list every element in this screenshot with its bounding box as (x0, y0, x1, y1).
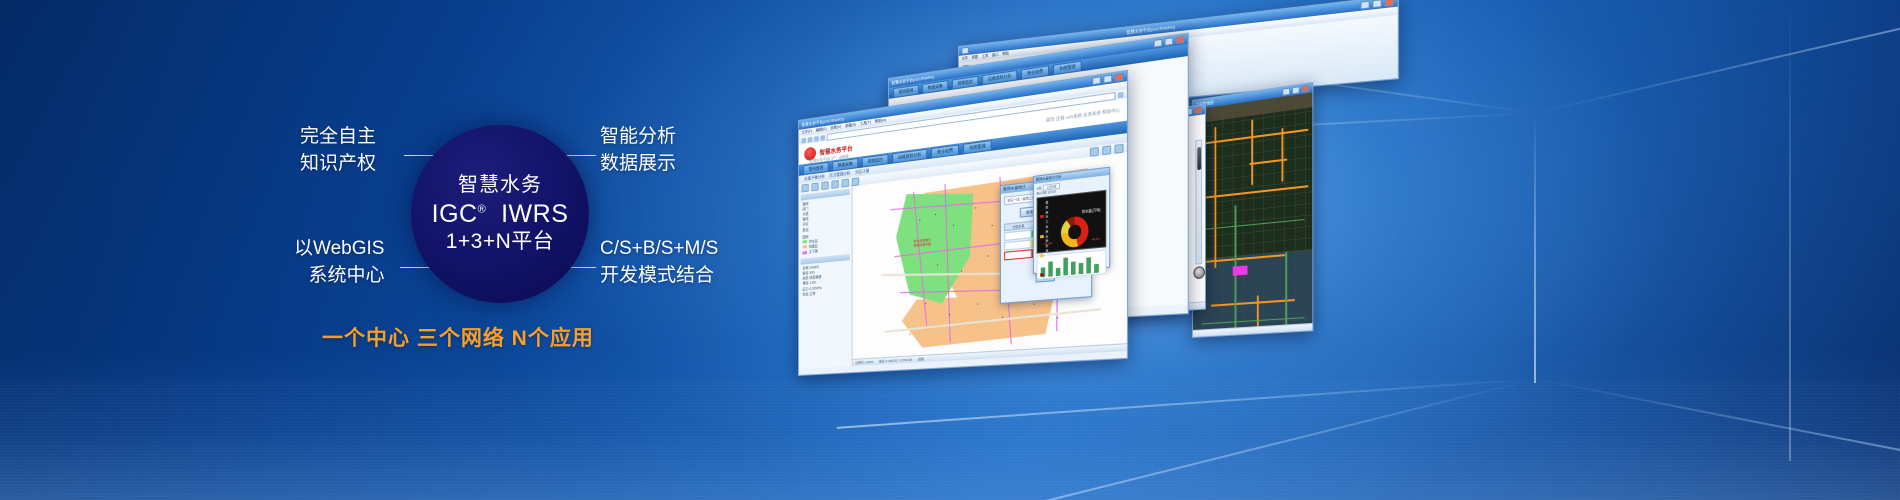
corner-link-home[interactable]: 首页 (1046, 116, 1055, 123)
pie-chart-title: 供水量(万吨) (1082, 208, 1101, 215)
maximize-icon[interactable] (1372, 0, 1382, 8)
status-scale: 比例尺 1:5000 (855, 360, 873, 365)
refresh-icon[interactable] (814, 136, 819, 142)
dialog-chart-analysis[interactable]: 管网水量统计分析 分区: 全部分区 统计周期: 近30日 居民用水 工业用水 商… (1033, 167, 1110, 274)
forward-icon[interactable] (808, 136, 812, 142)
hero-banner: 完全自主 知识产权 以WebGIS 系统中心 智能分析 数据展示 C/S+B/S… (0, 0, 1900, 500)
circle-product-name: IGC® IWRS (432, 201, 569, 228)
satellite-selected-parcel[interactable] (1233, 265, 1248, 275)
maximize-icon[interactable] (1103, 74, 1112, 83)
satellite-map-canvas[interactable] (1193, 93, 1312, 337)
feature-top-right: 智能分析 数据展示 (600, 124, 676, 178)
feature-bottom-left-line2: 系统中心 (294, 263, 384, 290)
feature-bottom-right-line1: C/S+B/S+M/S (600, 238, 718, 259)
gis-side-panel[interactable]: 管网 阀门 水表 管段 分区 泵站 图例 供水区 待建区 主干管 名称 DN30… (799, 186, 853, 369)
layers-tree[interactable]: 管网 阀门 水表 管段 分区 泵站 图例 供水区 待建区 主干管 (801, 197, 850, 256)
status-ready: 就绪 (918, 357, 924, 362)
maximize-icon[interactable] (1292, 86, 1300, 94)
screenshot-stack: 智慧水务平台(IGC®IWRS) 文件 视图 工具 窗口 帮助 地图操作 数据管… (790, 46, 1550, 376)
pie-annotation-left: 55.8% (1045, 241, 1053, 246)
corner-link-gis[interactable]: GIS系统 (1066, 112, 1082, 120)
close-icon[interactable] (1302, 85, 1310, 93)
feature-bottom-left-line1: 以WebGIS (294, 236, 384, 263)
satellite-road (1281, 128, 1283, 182)
center-circle-badge: 智慧水务 IGC® IWRS 1+3+N平台 (411, 125, 589, 303)
feature-bottom-right-line2: 开发模式结合 (600, 263, 718, 290)
status-coords: 坐标 X:405231 Y:3752118 (879, 358, 912, 364)
go-icon[interactable] (1118, 91, 1124, 97)
feature-top-right-line2: 数据展示 (600, 151, 676, 178)
satellite-imagery (1193, 93, 1312, 337)
pie-chart-legend: 居民用水 工业用水 商业用水 其他用水 (1040, 200, 1051, 278)
app-menu-icon[interactable] (962, 47, 969, 55)
close-icon[interactable] (1114, 73, 1123, 82)
close-icon[interactable] (1384, 0, 1394, 7)
print-icon[interactable] (1102, 145, 1111, 155)
pan-navigator-icon[interactable] (1193, 266, 1205, 279)
feature-top-right-line1: 智能分析 (600, 126, 676, 147)
feature-bottom-left: 以WebGIS 系统中心 (294, 236, 384, 290)
circle-product-igc: IGC (432, 200, 478, 228)
window-satellite-map[interactable]: 卫星影像图 (1192, 82, 1313, 338)
pie-annotation-right: 44.2% (1092, 237, 1100, 242)
tagline: 一个中心 三个网络 N个应用 (322, 322, 594, 352)
pie-chart-donut (1061, 215, 1089, 248)
concept-diagram: 完全自主 知识产权 以WebGIS 系统中心 智能分析 数据展示 C/S+B/S… (0, 0, 820, 500)
menu-file[interactable]: 文件 (962, 56, 968, 62)
back-icon[interactable] (802, 137, 806, 143)
maximize-icon[interactable] (1165, 37, 1174, 46)
circle-platform-label: 1+3+N平台 (446, 231, 555, 253)
home-icon[interactable] (820, 135, 825, 141)
minimize-icon[interactable] (1282, 87, 1290, 95)
close-icon[interactable] (1194, 106, 1202, 114)
registered-mark-icon: ® (478, 204, 487, 216)
minimize-icon[interactable] (1154, 39, 1163, 48)
menu-window[interactable]: 窗口 (992, 52, 999, 58)
feature-top-left: 完全自主 知识产权 (300, 124, 376, 178)
export-icon[interactable] (1114, 143, 1123, 153)
layer-icon[interactable] (1090, 146, 1099, 156)
feature-top-left-line2: 知识产权 (300, 151, 376, 178)
line-chart-scrollbar[interactable] (1195, 139, 1202, 264)
attributes-table: 名称 DN300 管径 300 材质 球墨铸铁 埋深 1.8m 压力 0.32M… (801, 262, 850, 297)
corner-links[interactable]: 首页 注销 GIS系统 业务系统 帮助中心 (1046, 107, 1120, 124)
close-icon[interactable] (1176, 35, 1185, 44)
corner-link-logout[interactable]: 注销 (1056, 115, 1065, 122)
dialog-chart-body: 分区: 全部分区 统计周期: 近30日 居民用水 工业用水 商业用水 其他用水 … (1034, 175, 1109, 283)
circle-title: 智慧水务 (458, 175, 542, 196)
chart-selector-label: 分区: (1037, 186, 1043, 191)
feature-bottom-right: C/S+B/S+M/S 开发模式结合 (600, 236, 718, 290)
corner-link-business[interactable]: 业务系统 (1083, 110, 1101, 118)
feature-top-left-line1: 完全自主 (300, 124, 376, 151)
menu-tools[interactable]: 工具 (982, 54, 989, 60)
minimize-icon[interactable] (1092, 76, 1101, 85)
corner-link-help[interactable]: 帮助中心 (1102, 107, 1120, 115)
satellite-road (1251, 120, 1253, 186)
menu-help[interactable]: 帮助 (1002, 51, 1009, 57)
circle-product-iwrs: IWRS (501, 200, 568, 228)
satellite-road (1214, 127, 1216, 268)
satellite-minor-road (1285, 252, 1287, 335)
map-annotation: 供水分区统计管网水量平衡 (913, 238, 931, 249)
scroll-thumb[interactable] (1197, 147, 1201, 170)
pie-chart-panel: 居民用水 工业用水 商业用水 其他用水 供水量(万吨) 55.8% 44.2% (1037, 190, 1107, 254)
menu-view[interactable]: 视图 (972, 55, 978, 61)
minimize-icon[interactable] (1360, 0, 1370, 9)
